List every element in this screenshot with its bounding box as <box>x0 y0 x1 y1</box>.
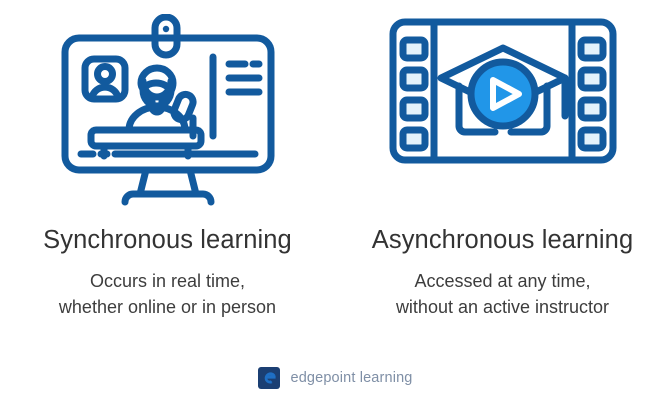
video-conference-monitor-icon <box>59 14 277 214</box>
column-description-asynchronous: Accessed at any time, without an active … <box>396 268 609 320</box>
column-title-synchronous: Synchronous learning <box>43 228 292 254</box>
column-asynchronous: Asynchronous learning Accessed at any ti… <box>335 0 670 345</box>
icon-wrap-synchronous <box>0 0 335 228</box>
infographic-canvas: Synchronous learning Occurs in real time… <box>0 0 670 419</box>
column-title-asynchronous: Asynchronous learning <box>372 228 634 254</box>
icon-wrap-asynchronous <box>335 0 670 228</box>
brand-wordmark: edgepoint learning <box>290 371 412 386</box>
edgepoint-e-logo-icon <box>257 366 281 390</box>
column-synchronous: Synchronous learning Occurs in real time… <box>0 0 335 345</box>
comparison-columns: Synchronous learning Occurs in real time… <box>0 0 670 345</box>
brand-lockup: edgepoint learning <box>0 366 670 390</box>
film-strip-graduation-cap-play-icon <box>387 14 619 214</box>
column-description-synchronous: Occurs in real time, whether online or i… <box>59 268 276 320</box>
